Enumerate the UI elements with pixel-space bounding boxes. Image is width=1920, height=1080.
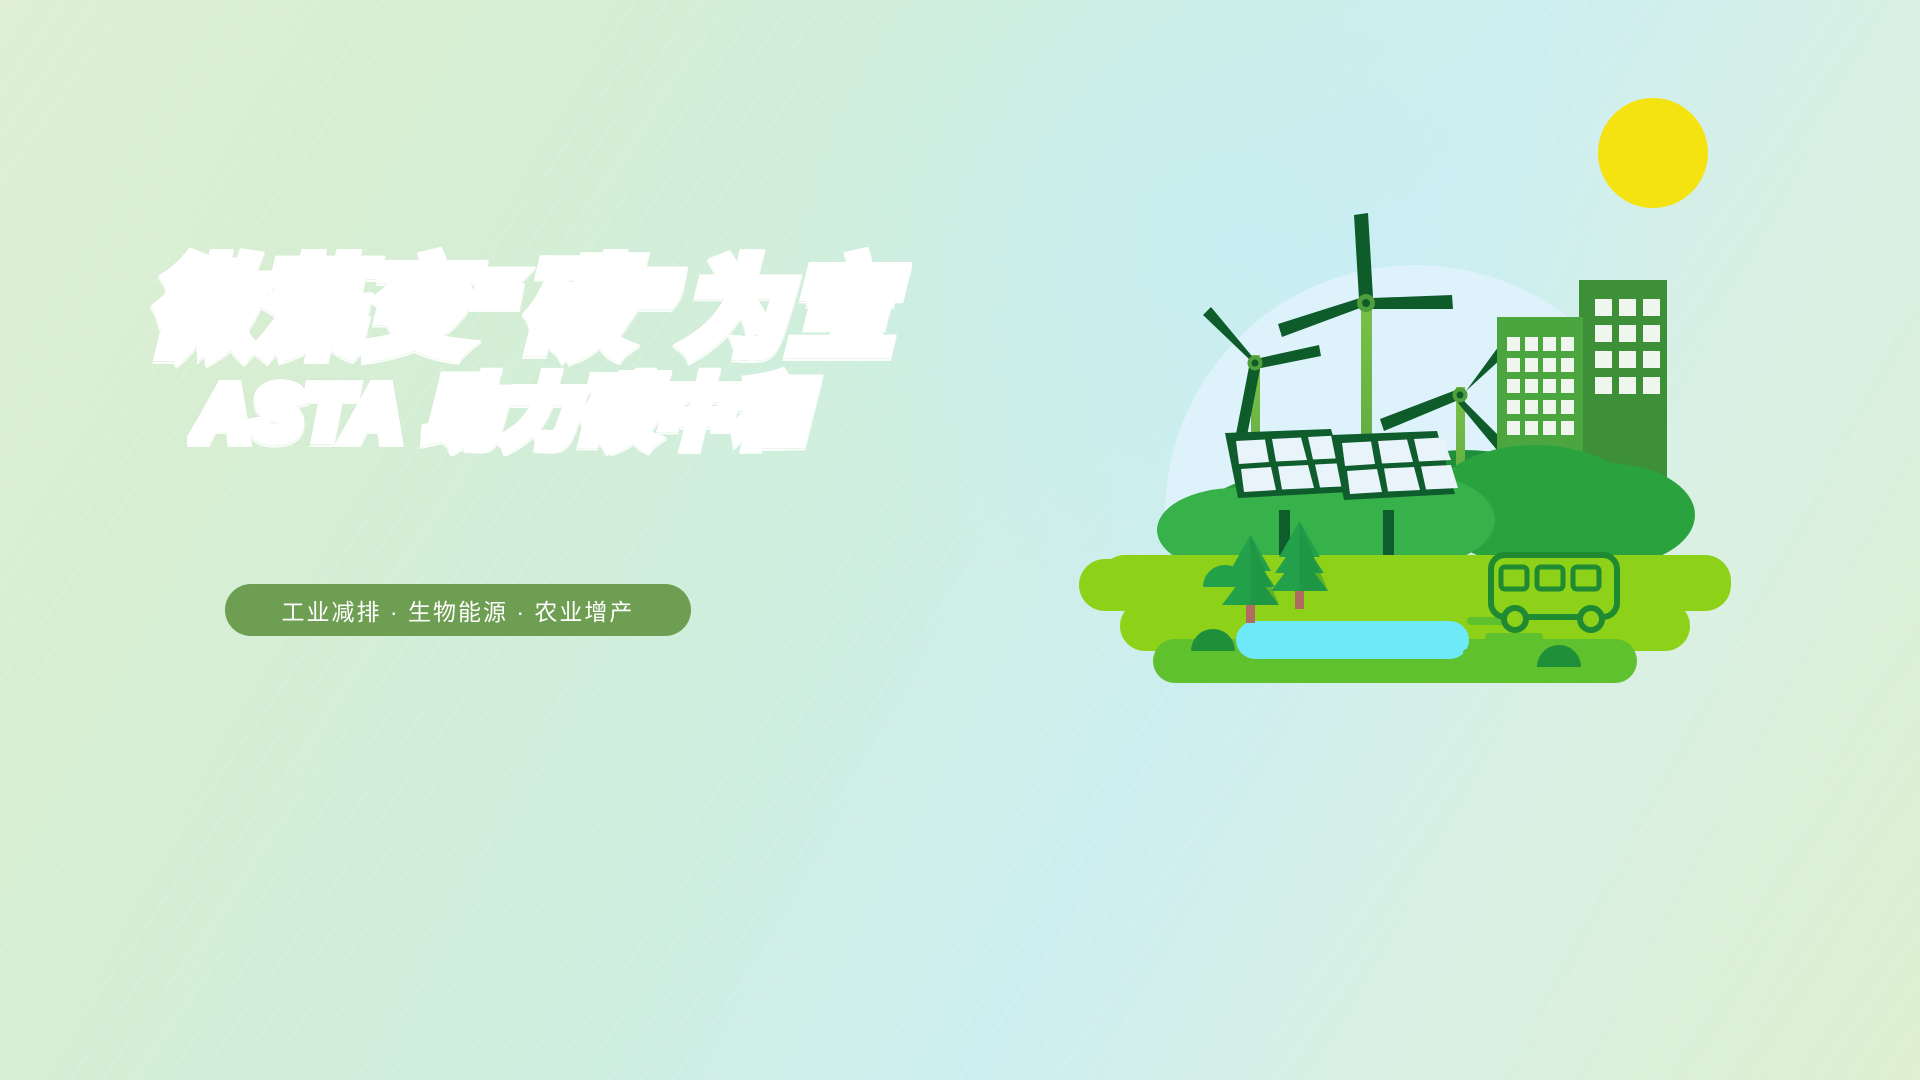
- page-subtitle: ASTA 助力碳中和: [196, 376, 890, 450]
- pond-shape: [1236, 617, 1543, 659]
- headline-block: 微藻变“碳”为宝 ASTA 助力碳中和: [150, 258, 890, 450]
- promo-banner: 微藻变“碳”为宝 ASTA 助力碳中和 工业减排 · 生物能源 · 农业增产: [0, 0, 1920, 1080]
- tagline-badge: 工业减排 · 生物能源 · 农业增产: [225, 584, 691, 636]
- page-title: 微藻变“碳”为宝: [150, 258, 890, 362]
- sun-icon: [1598, 98, 1708, 208]
- tagline-text: 工业减排 · 生物能源 · 农业增产: [282, 593, 635, 627]
- bus-icon: [1491, 555, 1617, 630]
- eco-city-illustration: [1105, 215, 1805, 675]
- grass-platform: [1079, 555, 1731, 683]
